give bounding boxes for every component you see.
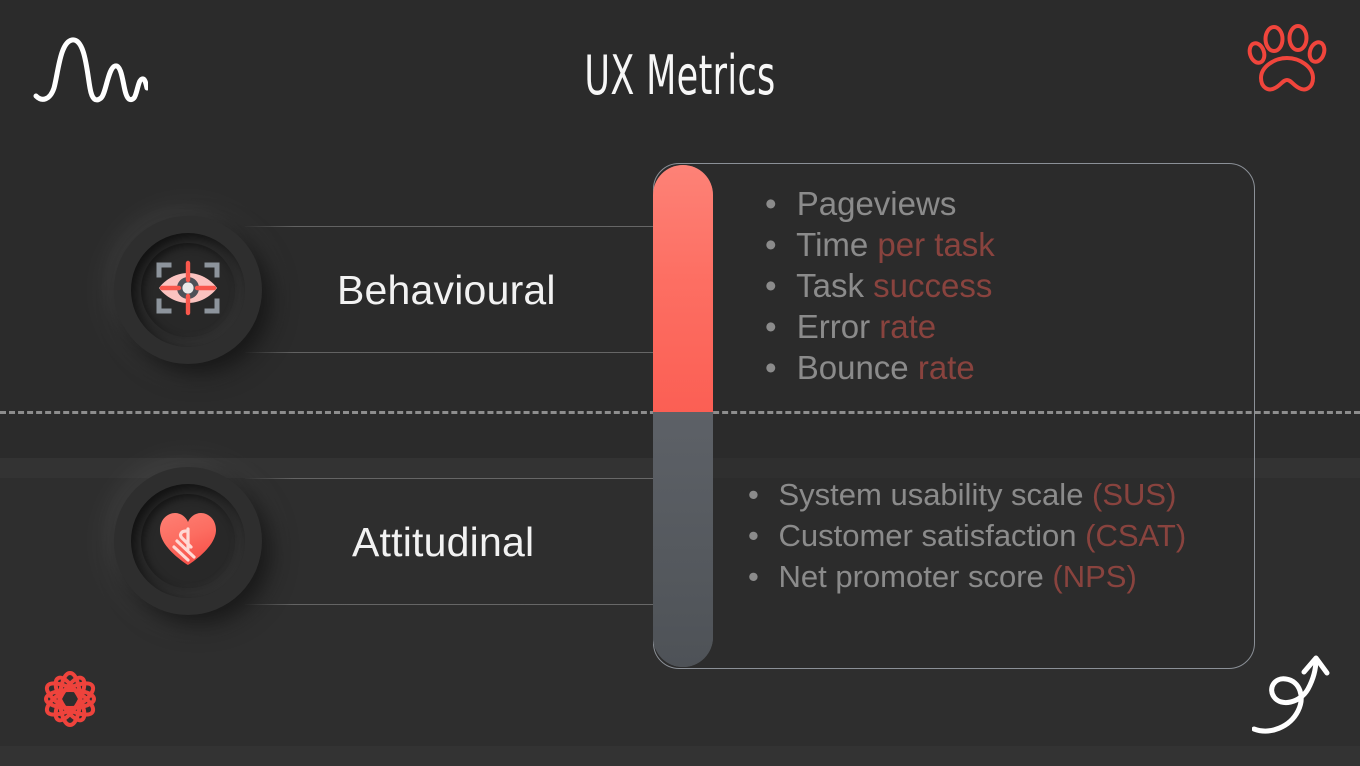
badge-inner-well	[141, 494, 235, 588]
row-label-behavioural: Behavioural	[337, 267, 556, 314]
metrics-card	[653, 163, 1255, 669]
connector-line-behavioural-bottom	[245, 352, 653, 353]
progress-bar-track	[653, 412, 713, 667]
slide-canvas: UX Metrics	[0, 0, 1360, 766]
row-label-attitudinal: Attitudinal	[352, 519, 534, 566]
wave-squiggle-icon	[30, 28, 148, 115]
connector-line-attitudinal-bottom	[245, 604, 653, 605]
page-title: UX Metrics	[190, 44, 1169, 107]
broken-heart-icon	[157, 510, 219, 573]
paw-print-icon	[1247, 22, 1333, 107]
progress-bar-fill	[653, 165, 713, 412]
badge-inner-well	[141, 243, 235, 337]
progress-bar[interactable]	[653, 165, 713, 667]
flower-icon	[28, 658, 112, 745]
eye-target-icon	[155, 260, 221, 321]
connector-line-behavioural-top	[245, 226, 653, 227]
curly-arrow-icon	[1252, 655, 1336, 746]
connector-line-attitudinal-top	[245, 478, 653, 479]
